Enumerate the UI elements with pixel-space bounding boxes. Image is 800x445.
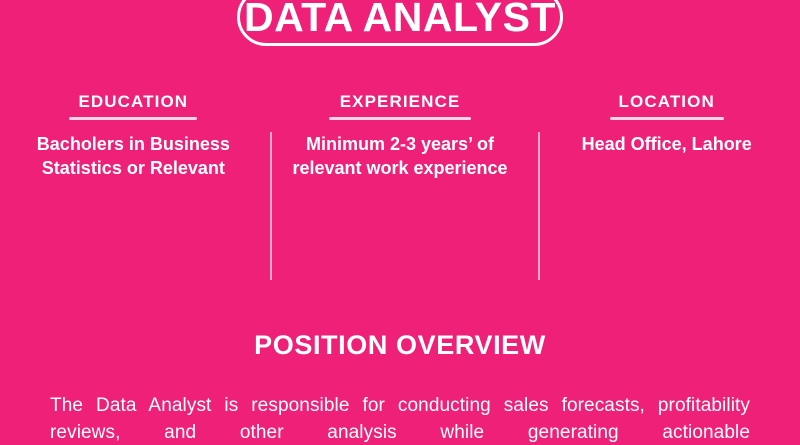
page-title: DATA ANALYST	[237, 0, 563, 44]
column-heading-experience: EXPERIENCE	[340, 92, 461, 112]
job-posting-poster: DATA ANALYST EDUCATION Bacholers in Busi…	[0, 0, 800, 445]
column-heading-education: EDUCATION	[78, 92, 188, 112]
column-body-education: Bacholers in Business Statistics or Rele…	[14, 132, 253, 180]
column-experience: EXPERIENCE Minimum 2-3 years’ of relevan…	[267, 92, 534, 180]
column-divider-left	[270, 132, 272, 280]
heading-underline-location	[610, 117, 724, 120]
requirements-columns: EDUCATION Bacholers in Business Statisti…	[0, 92, 800, 180]
column-body-location: Head Office, Lahore	[547, 132, 786, 156]
column-heading-location: LOCATION	[619, 92, 715, 112]
position-overview-paragraph: The Data Analyst is responsible for cond…	[50, 392, 750, 445]
column-divider-right	[538, 132, 540, 280]
column-education: EDUCATION Bacholers in Business Statisti…	[0, 92, 267, 180]
heading-underline-education	[69, 117, 197, 120]
section-heading-position-overview: POSITION OVERVIEW	[0, 330, 800, 361]
heading-underline-experience	[329, 117, 471, 120]
column-body-experience: Minimum 2-3 years’ of relevant work expe…	[281, 132, 520, 180]
column-location: LOCATION Head Office, Lahore	[533, 92, 800, 156]
